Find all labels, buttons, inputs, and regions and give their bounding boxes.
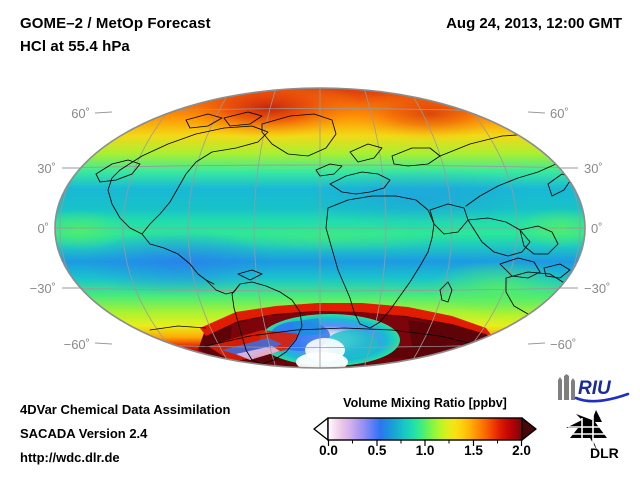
colorbar-gradient (328, 418, 522, 440)
forecast-map-page: GOME–2 / MetOp Forecast HCl at 55.4 hPa … (0, 0, 640, 480)
colorbar-high-arrow (522, 418, 536, 440)
colorbar-tick-3: 1.5 (464, 443, 483, 458)
lat-label-60n-right: 60˚ (550, 106, 569, 121)
hcl-field (32, 78, 605, 372)
colorbar-tick-4: 2.0 (512, 443, 531, 458)
colorbar-scale (312, 416, 538, 442)
colorbar-tick-1: 0.5 (368, 443, 387, 458)
page-title-species: HCl at 55.4 hPa (20, 38, 130, 55)
map-canvas: 60˚ 30˚ 0˚ −30˚ −60˚ 60˚ 30˚ 0˚ −30˚ −60… (0, 78, 640, 378)
riu-logo: RIU (556, 374, 630, 404)
lat-label-60n-left: 60˚ (71, 106, 90, 121)
footer-method: 4DVar Chemical Data Assimilation (20, 402, 231, 417)
lat-label-30s-right: −30˚ (584, 281, 610, 296)
footer-url[interactable]: http://wdc.dlr.de (20, 450, 120, 465)
lat-label-60s-left: −60˚ (64, 337, 90, 352)
lat-label-0-left: 0˚ (37, 221, 49, 236)
lat-label-60s-right: −60˚ (550, 337, 576, 352)
dlr-logo-text: DLR (590, 445, 619, 461)
forecast-datetime: Aug 24, 2013, 12:00 GMT (446, 15, 622, 32)
colorbar-low-arrow (314, 418, 328, 440)
lat-label-30n-right: 30˚ (584, 161, 603, 176)
dlr-logo: DLR (562, 408, 632, 464)
riu-smokestacks-icon (558, 374, 575, 400)
colorbar-title: Volume Mixing Ratio [ppbv] (312, 396, 538, 410)
colorbar-tick-0: 0.0 (319, 443, 338, 458)
lat-label-0-right: 0˚ (591, 221, 603, 236)
page-title-instrument: GOME–2 / MetOp Forecast (20, 15, 211, 32)
colorbar: Volume Mixing Ratio [ppbv] (312, 396, 538, 468)
lat-label-30n-left: 30˚ (37, 161, 56, 176)
riu-logo-text: RIU (578, 378, 612, 399)
lat-label-30s-left: −30˚ (30, 281, 56, 296)
colorbar-tick-2: 1.0 (416, 443, 435, 458)
footer-version: SACADA Version 2.4 (20, 426, 147, 441)
global-map: 60˚ 30˚ 0˚ −30˚ −60˚ 60˚ 30˚ 0˚ −30˚ −60… (0, 78, 640, 378)
